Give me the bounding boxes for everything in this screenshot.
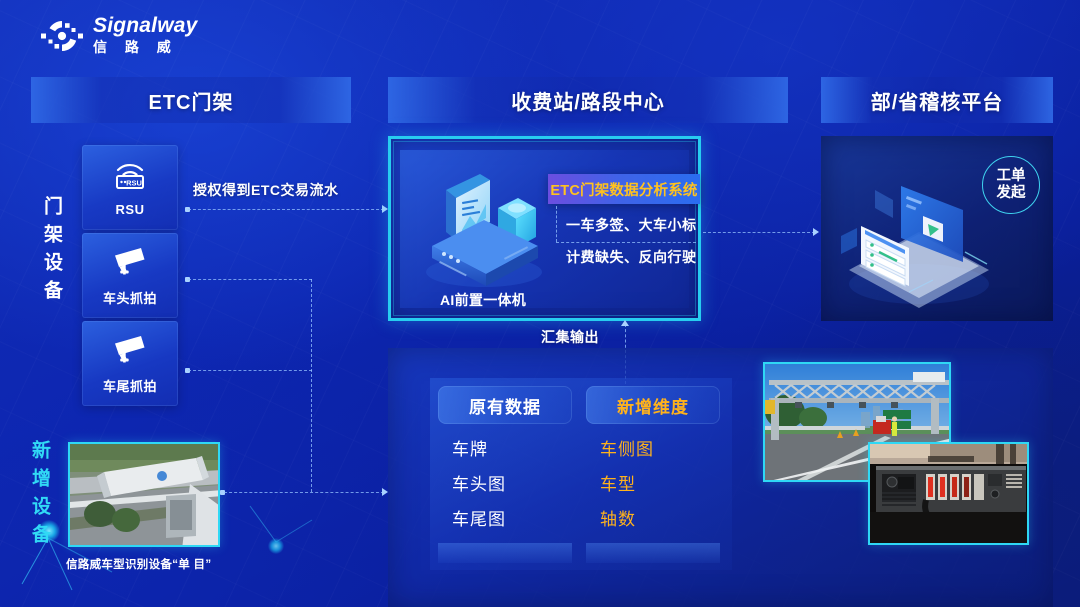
isometric-audit-platform-screens-icon bbox=[835, 166, 1000, 316]
feature-line-2: 计费缺失、反向行驶 bbox=[566, 247, 697, 267]
data-item: 车型 bbox=[600, 470, 636, 495]
data-item: 车牌 bbox=[452, 435, 488, 460]
section-header-audit-platform: 部/省稽核平台 bbox=[821, 77, 1053, 123]
connector-label-authorize: 授权得到ETC交易流水 bbox=[193, 180, 339, 200]
data-item: 轴数 bbox=[600, 505, 636, 530]
data-item: 车头图 bbox=[452, 470, 506, 495]
audit-platform-panel: 工单 发起 bbox=[821, 136, 1053, 321]
bottom-data-panel: 原有数据 车牌 车头图 车尾图 新增维度 车侧图 车型 轴数 bbox=[388, 348, 1053, 607]
device-card-rsu[interactable]: RSU RSU bbox=[82, 145, 178, 230]
connector-line-center-to-right bbox=[703, 232, 815, 233]
section-header-toll-station: 收费站/路段中心 bbox=[388, 77, 788, 123]
work-order-badge-line1: 工单 bbox=[997, 168, 1026, 185]
rail-label-new-equipment: 新增设备 bbox=[30, 440, 49, 552]
work-order-badge: 工单 发起 bbox=[982, 156, 1040, 214]
device-card-front-capture[interactable]: 车头抓拍 bbox=[82, 233, 178, 318]
work-order-badge-line2: 发起 bbox=[997, 185, 1026, 202]
data-dimensions-card: 原有数据 车牌 车头图 车尾图 新增维度 车侧图 车型 轴数 bbox=[430, 378, 732, 570]
brand-name-cn: 信 路 威 bbox=[93, 39, 198, 57]
svg-text:RSU: RSU bbox=[126, 178, 142, 187]
device-card-label: 车头抓拍 bbox=[103, 288, 157, 307]
isometric-ai-server-dashboard-icon bbox=[418, 168, 550, 298]
brand-name-en: Signalway bbox=[93, 15, 198, 36]
glow-dot-decoration bbox=[268, 538, 284, 554]
feature-line-1: 一车多签、大车小标 bbox=[566, 215, 697, 235]
connector-arrow-icon bbox=[621, 320, 629, 326]
rsu-antenna-icon: RSU bbox=[109, 159, 151, 196]
center-analysis-panel: ETC门架数据分析系统 一车多签、大车小标 计费缺失、反向行驶 AI前置一体机 bbox=[388, 136, 701, 321]
new-equipment-photo-caption: 信路威车型识别设备“单 目” bbox=[66, 556, 211, 572]
brand-wordmark: Signalway 信 路 威 bbox=[93, 15, 198, 57]
server-equipment-rack-photo bbox=[868, 442, 1029, 545]
data-item: 车侧图 bbox=[600, 435, 654, 460]
rail-label-gantry-equipment: 门架设备 bbox=[42, 196, 61, 308]
data-column-plinth bbox=[586, 543, 720, 563]
data-column-header-original: 原有数据 bbox=[438, 386, 572, 424]
section-header-etc-gantry: ETC门架 bbox=[31, 77, 351, 123]
connector-line bbox=[311, 279, 312, 492]
new-equipment-photo bbox=[68, 442, 220, 547]
center-panel-inner: ETC门架数据分析系统 一车多签、大车小标 计费缺失、反向行驶 AI前置一体机 bbox=[400, 150, 689, 308]
device-card-label: 车尾抓拍 bbox=[103, 376, 157, 395]
slide-canvas: Signalway 信 路 威 ETC门架 收费站/路段中心 部/省稽核平台 门… bbox=[0, 0, 1080, 607]
device-card-label: RSU bbox=[116, 202, 145, 217]
connector-line bbox=[188, 370, 312, 371]
data-column-header-new: 新增维度 bbox=[586, 386, 720, 424]
connector-line bbox=[188, 279, 312, 280]
device-card-rear-capture[interactable]: 车尾抓拍 bbox=[82, 321, 178, 406]
ai-device-label: AI前置一体机 bbox=[440, 290, 526, 310]
data-column-plinth bbox=[438, 543, 572, 563]
brand-logo: Signalway 信 路 威 bbox=[40, 13, 198, 59]
connector-line bbox=[224, 492, 384, 493]
connector-label-aggregate: 汇集输出 bbox=[541, 327, 599, 347]
glow-line-decoration bbox=[246, 500, 316, 570]
connector-line bbox=[556, 206, 557, 242]
connector-arrow-icon bbox=[813, 228, 819, 236]
system-title-badge: ETC门架数据分析系统 bbox=[548, 174, 700, 204]
cctv-camera-icon bbox=[108, 333, 152, 370]
data-item: 车尾图 bbox=[452, 505, 506, 530]
cctv-camera-icon bbox=[108, 245, 152, 282]
connector-line bbox=[556, 242, 696, 243]
connector-line bbox=[188, 209, 384, 210]
signalway-swirl-logo-icon bbox=[40, 14, 84, 58]
